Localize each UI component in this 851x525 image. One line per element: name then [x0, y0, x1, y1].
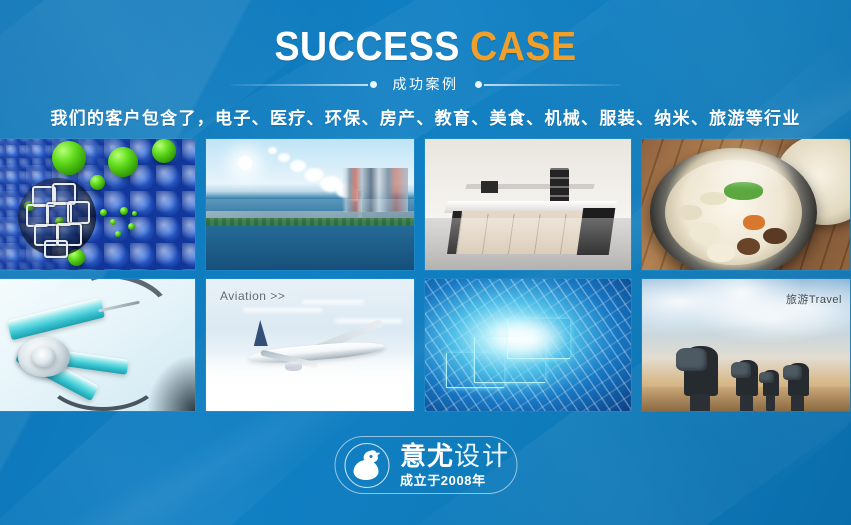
electronics-image: [425, 279, 631, 411]
page-subtitle: 成功案例: [393, 74, 459, 94]
logo-established-text: 成立于2008年: [400, 474, 510, 487]
case-tile-medical[interactable]: [0, 279, 195, 411]
divider-dot-icon: [370, 81, 377, 88]
divider-bar: [231, 84, 368, 86]
logo-name-light: 设计: [454, 441, 510, 471]
title-word-case: CASE: [470, 23, 577, 69]
case-tile-aviation[interactable]: Aviation >>: [206, 279, 414, 411]
case-tile-electronics[interactable]: [425, 279, 631, 411]
case-tile-nanotech[interactable]: [0, 139, 195, 270]
divider-bar: [484, 84, 621, 86]
logo-text-block: 意尤设计 成立于2008年: [400, 443, 510, 487]
fullerene-molecule-icon: [18, 178, 96, 256]
lab-furniture-image: [425, 139, 631, 270]
case-tile-lab-furniture[interactable]: [425, 139, 631, 270]
banner-header: SUCCESSCASE 成功案例 我们的客户包含了，电子、医疗、环保、房产、教育…: [0, 0, 851, 129]
hiker-figure: [684, 346, 718, 396]
bird-mouse-logo-icon: [344, 443, 389, 488]
subtitle-row: 成功案例: [0, 73, 851, 95]
divider-left: [231, 79, 377, 90]
case-tile-travel[interactable]: 旅游Travel: [642, 279, 850, 411]
medical-image: [0, 279, 195, 411]
gallery-row: Aviation >>: [0, 279, 851, 411]
case-gallery: Aviation >>: [0, 139, 851, 420]
success-case-banner: SUCCESSCASE 成功案例 我们的客户包含了，电子、医疗、环保、房产、教育…: [0, 0, 851, 525]
hiker-figure: [763, 370, 779, 396]
hiker-figure: [788, 363, 809, 396]
title-word-success: SUCCESS: [274, 23, 460, 69]
nanotech-image: [0, 139, 195, 270]
company-logo[interactable]: 意尤设计 成立于2008年: [334, 436, 517, 494]
plane-tail-icon: [250, 320, 268, 346]
travel-label: 旅游Travel: [786, 291, 842, 307]
page-title: SUCCESSCASE: [34, 0, 817, 68]
logo-name-bold: 意尤: [400, 441, 454, 471]
divider-right: [475, 79, 621, 90]
case-tile-food[interactable]: [642, 139, 850, 270]
environment-image: [206, 139, 414, 270]
gallery-row: [0, 139, 851, 270]
food-hotpot-image: [642, 139, 850, 270]
divider-dot-icon: [475, 81, 482, 88]
hiker-figure: [736, 360, 758, 396]
logo-company-name: 意尤设计: [400, 443, 510, 469]
industry-tagline: 我们的客户包含了，电子、医疗、环保、房产、教育、美食、机械、服装、纳米、旅游等行…: [0, 104, 851, 129]
case-tile-environment[interactable]: [206, 139, 414, 270]
sun-icon: [238, 156, 252, 170]
aviation-label: Aviation >>: [220, 289, 285, 303]
